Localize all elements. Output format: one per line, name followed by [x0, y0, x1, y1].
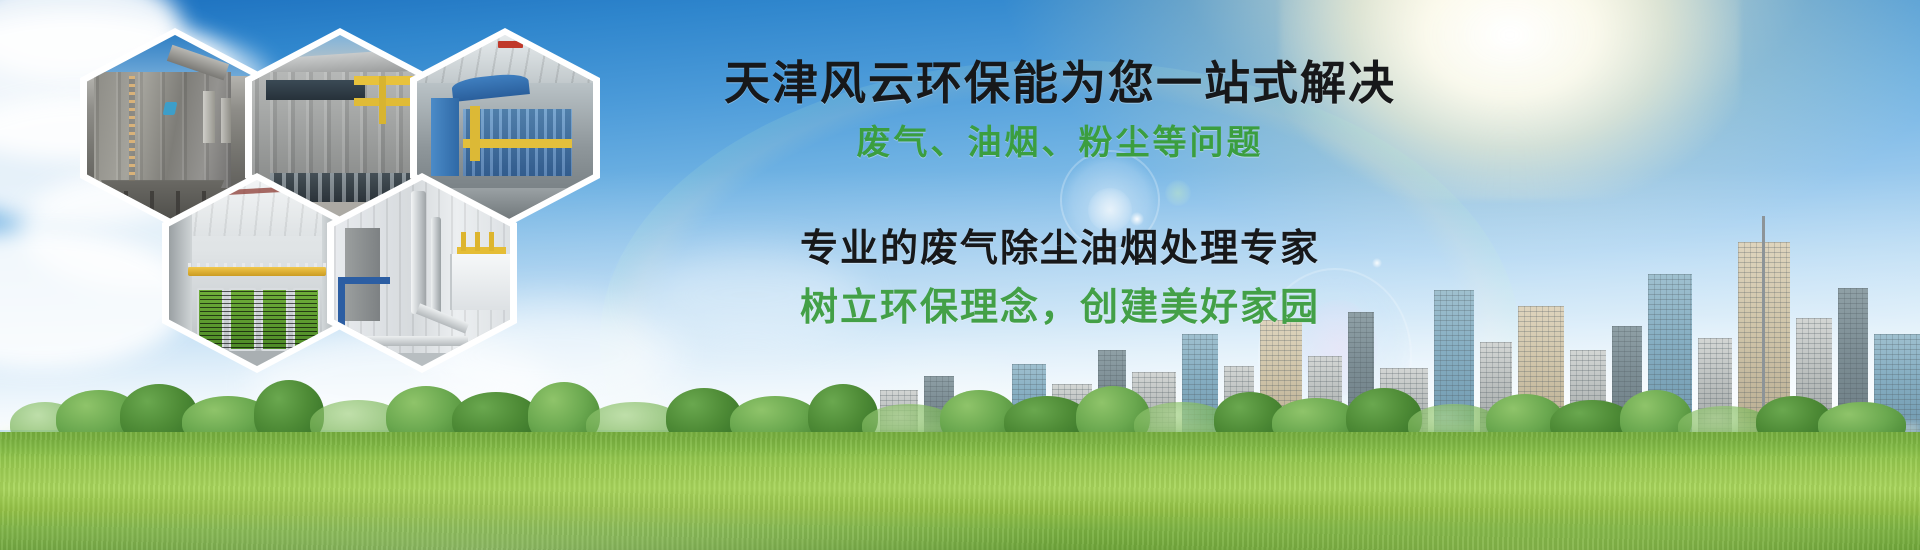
- banner-headline: 天津风云环保能为您一站式解决: [700, 58, 1420, 110]
- banner-copy: 天津风云环保能为您一站式解决 废气、油烟、粉尘等问题 专业的废气除尘油烟处理专家…: [700, 58, 1420, 330]
- hero-banner: 天津风云环保能为您一站式解决 废气、油烟、粉尘等问题 专业的废气除尘油烟处理专家…: [0, 0, 1920, 550]
- banner-tagline-one: 专业的废气除尘油烟处理专家: [700, 227, 1420, 271]
- green-grass-field: [0, 432, 1920, 550]
- hex-photo-cluster: [70, 18, 670, 398]
- banner-tagline-two: 树立环保理念，创建美好家园: [700, 286, 1420, 330]
- banner-subheadline: 废气、油烟、粉尘等问题: [700, 124, 1420, 163]
